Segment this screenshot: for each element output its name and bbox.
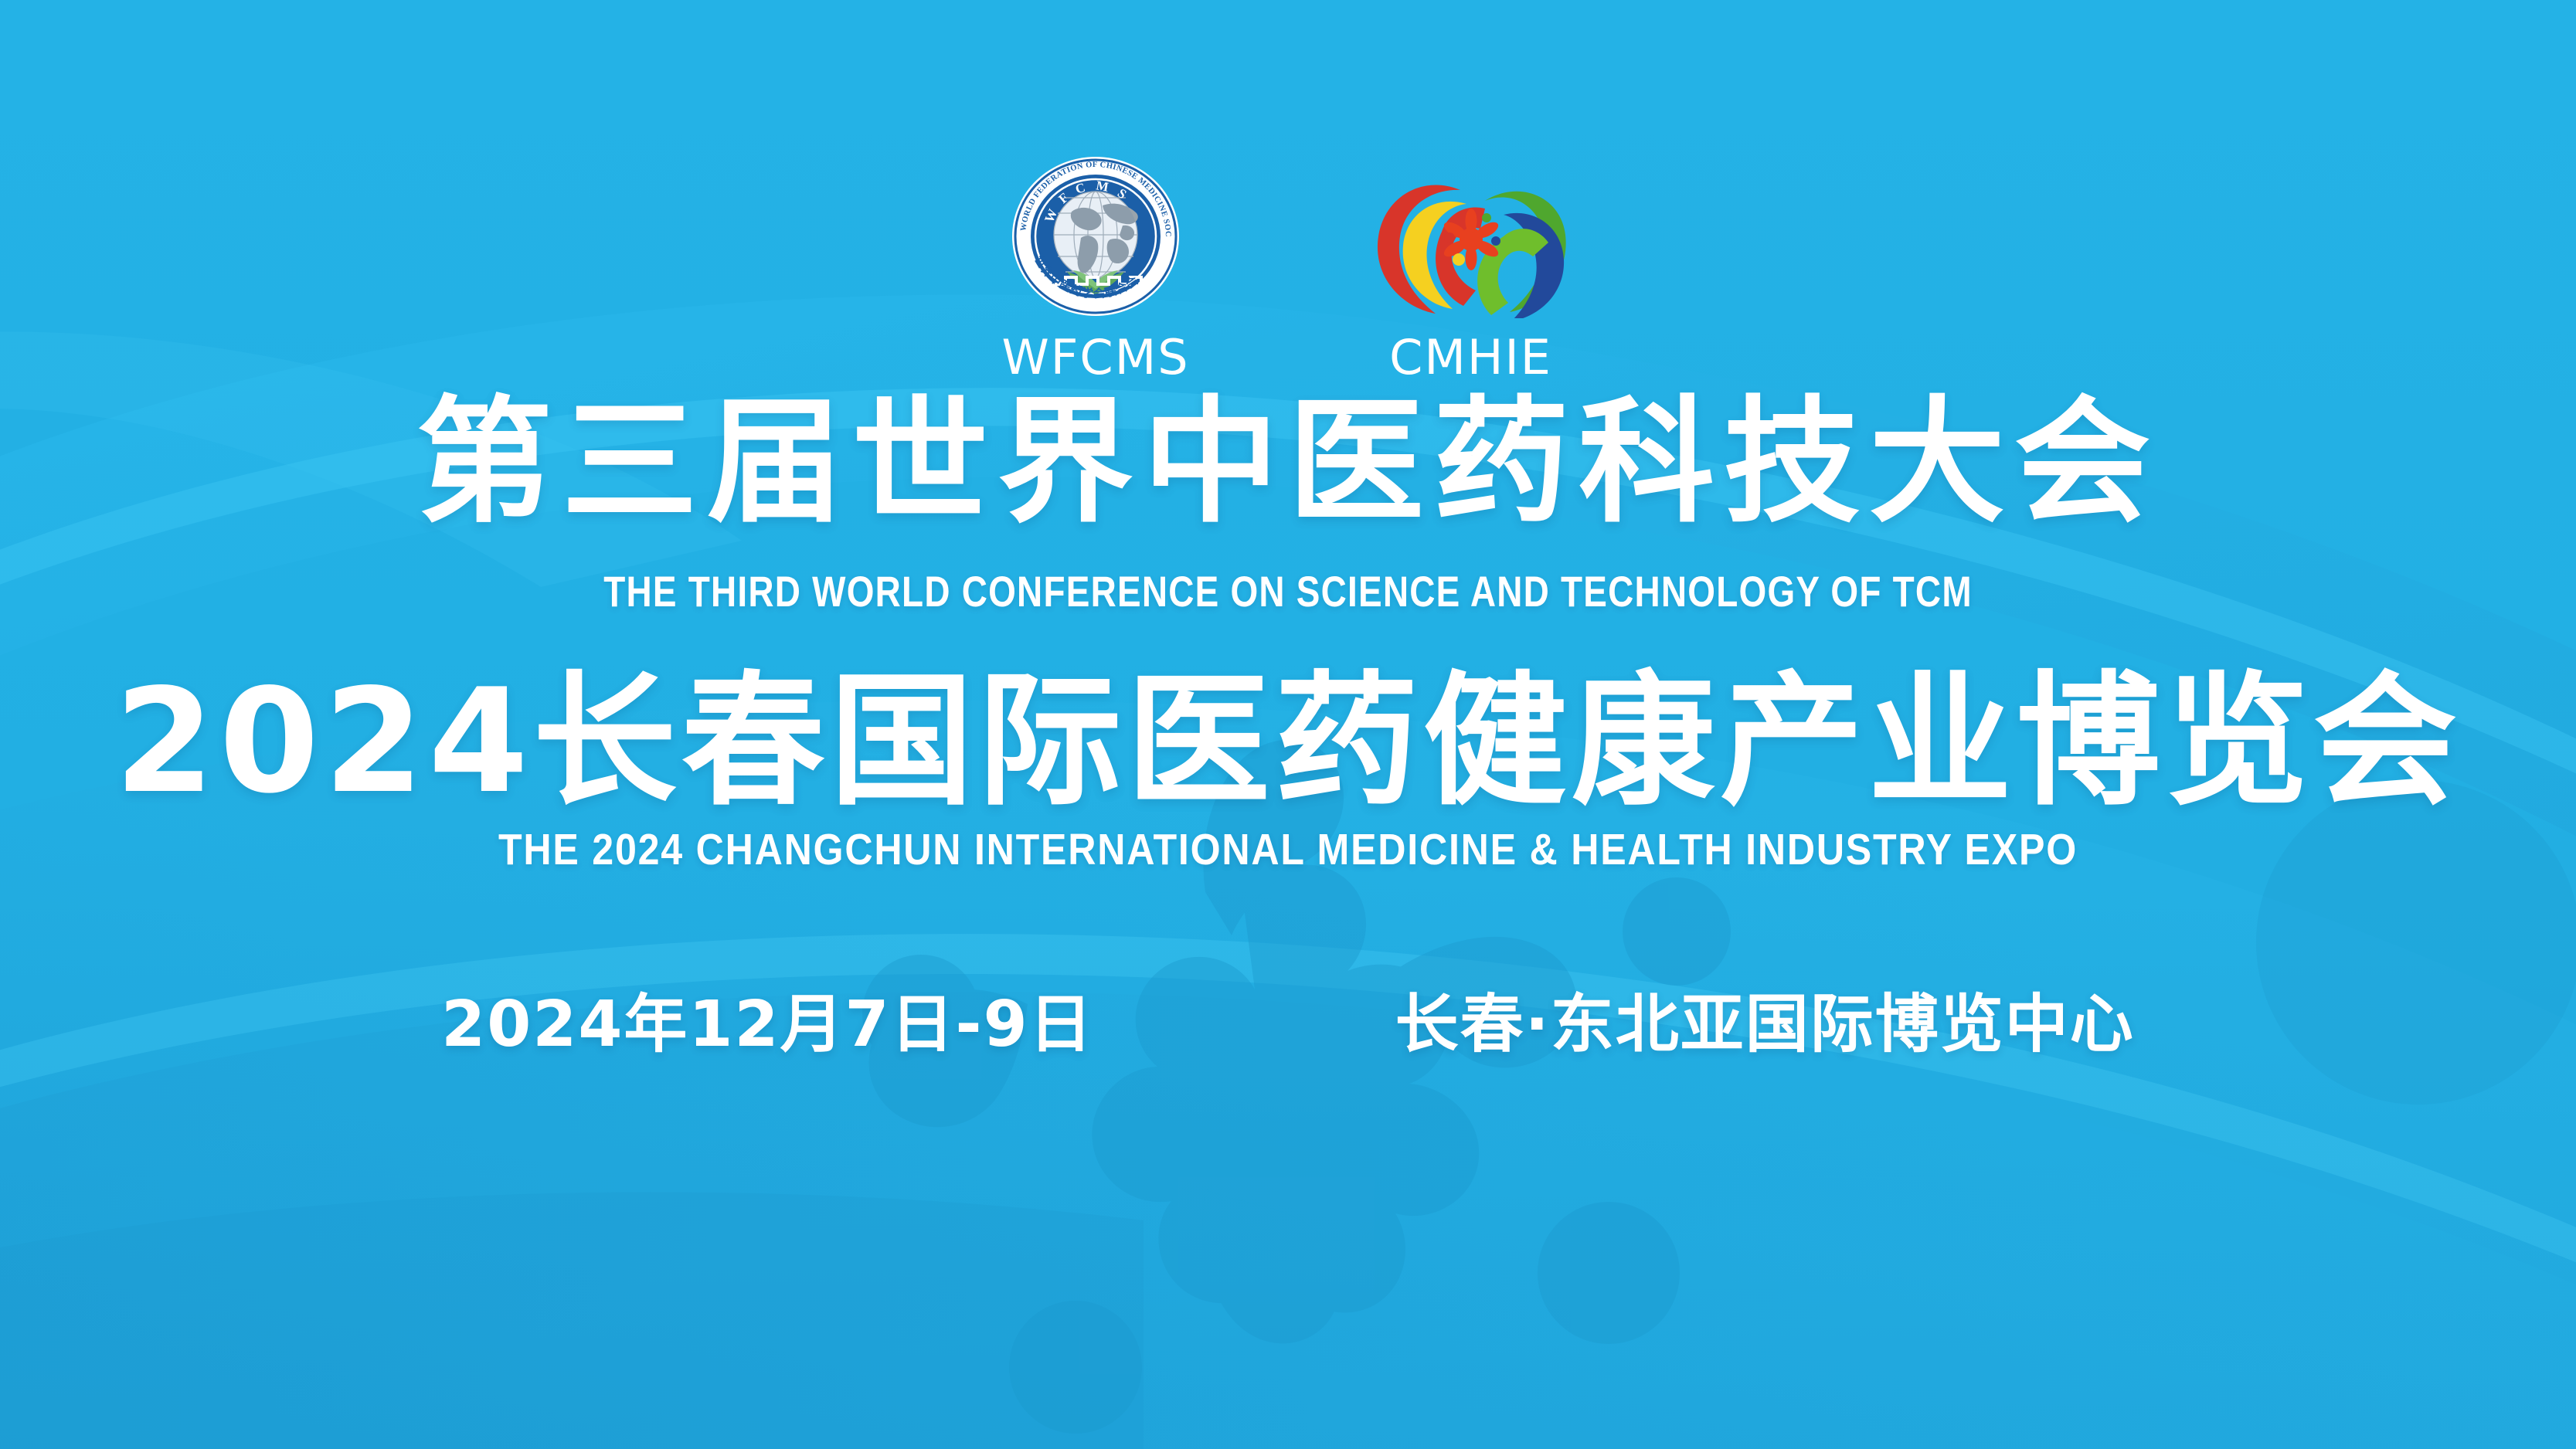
cmhie-emblem: [1368, 164, 1575, 318]
conference-banner: W F C M S WORLD FEDERATION OF CHINESE ME…: [0, 0, 2576, 1449]
conference-title-cn: 第三届世界中医药科技大会: [0, 386, 2576, 538]
expo-title-cn: 2024长春国际医药健康产业博览会: [0, 661, 2576, 822]
expo-subtitle-en: THE 2024 CHANGCHUN INTERNATIONAL MEDICIN…: [155, 828, 2421, 872]
cmhie-dot-lower: [1453, 253, 1465, 266]
cmhie-dot-left: [1444, 232, 1455, 243]
wfcms-wordmark: WFCMS: [1001, 334, 1189, 382]
wfcms-emblem: W F C M S WORLD FEDERATION OF CHINESE ME…: [1007, 154, 1184, 323]
logo-row: W F C M S WORLD FEDERATION OF CHINESE ME…: [0, 154, 2576, 382]
cmhie-dot-right: [1491, 236, 1500, 246]
event-info-row: 2024年12月7日-9日 长春·东北亚国际博览中心: [0, 993, 2576, 1057]
conference-subtitle-en: THE THIRD WORLD CONFERENCE ON SCIENCE AN…: [232, 570, 2344, 613]
event-venue: 长春·东北亚国际博览中心: [1395, 993, 2135, 1057]
logo-wfcms: W F C M S WORLD FEDERATION OF CHINESE ME…: [1001, 154, 1189, 382]
event-date: 2024年12月7日-9日: [441, 993, 1093, 1057]
cmhie-wordmark: CMHIE: [1389, 334, 1552, 382]
cmhie-dot-upper: [1482, 213, 1491, 222]
logo-cmhie: CMHIE: [1368, 164, 1575, 382]
